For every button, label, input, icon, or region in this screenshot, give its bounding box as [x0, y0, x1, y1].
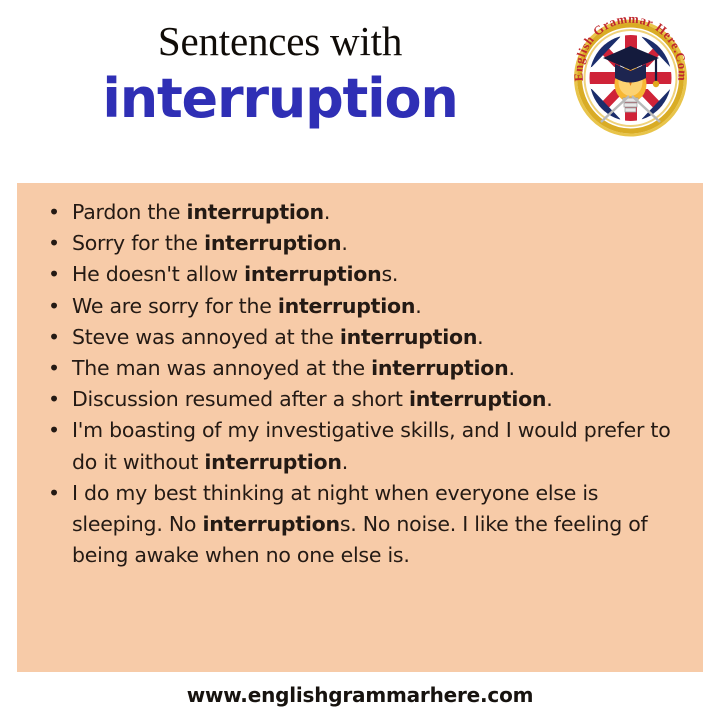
brand-logo-badge: English Grammar Here.Com: [567, 10, 694, 142]
site-url-footer: www.englishgrammarhere.com: [0, 682, 720, 708]
bullet-icon: •: [48, 478, 60, 509]
bullet-icon: •: [48, 353, 60, 384]
list-item: •Discussion resumed after a short interr…: [41, 384, 687, 415]
sentence-text: Pardon the interruption.: [72, 200, 330, 224]
keyword-highlight: interruption: [409, 387, 546, 411]
sentence-text: Steve was annoyed at the interruption.: [72, 325, 483, 349]
list-item: •We are sorry for the interruption.: [41, 291, 687, 322]
poster-page: Sentences with interruption: [0, 0, 720, 720]
keyword-highlight: interruption: [203, 512, 340, 536]
bullet-icon: •: [48, 228, 60, 259]
list-item: •I do my best thinking at night when eve…: [41, 478, 687, 572]
sentence-text: I'm boasting of my investigative skills,…: [72, 418, 671, 473]
bullet-icon: •: [48, 259, 60, 290]
sentence-text: Discussion resumed after a short interru…: [72, 387, 553, 411]
list-item: •The man was annoyed at the interruption…: [41, 353, 687, 384]
keyword-highlight: interruption: [204, 231, 341, 255]
bullet-icon: •: [48, 322, 60, 353]
sentences-panel: •Pardon the interruption.•Sorry for the …: [17, 183, 703, 672]
bullet-icon: •: [48, 384, 60, 415]
poster-header: Sentences with interruption: [0, 0, 720, 180]
keyword-highlight: interruption: [371, 356, 508, 380]
sentence-text: I do my best thinking at night when ever…: [72, 481, 648, 567]
list-item: •He doesn't allow interruptions.: [41, 259, 687, 290]
list-item: •I'm boasting of my investigative skills…: [41, 415, 687, 477]
list-item: •Pardon the interruption.: [41, 197, 687, 228]
list-item: •Sorry for the interruption.: [41, 228, 687, 259]
keyword-highlight: interruption: [244, 262, 381, 286]
keyword-highlight: interruption: [204, 450, 341, 474]
keyword-highlight: interruption: [340, 325, 477, 349]
keyword-highlight: interruption: [187, 200, 324, 224]
sentence-text: He doesn't allow interruptions.: [72, 262, 398, 286]
bullet-icon: •: [48, 415, 60, 446]
sentence-text: We are sorry for the interruption.: [72, 294, 421, 318]
page-title-keyword: interruption: [0, 68, 560, 130]
keyword-highlight: interruption: [278, 294, 415, 318]
bullet-icon: •: [48, 197, 60, 228]
sentence-text: The man was annoyed at the interruption.: [72, 356, 515, 380]
title-block: Sentences with interruption: [0, 16, 560, 130]
list-item: •Steve was annoyed at the interruption.: [41, 322, 687, 353]
sentence-list: •Pardon the interruption.•Sorry for the …: [33, 197, 687, 571]
page-title-prefix: Sentences with: [0, 16, 560, 66]
bullet-icon: •: [48, 291, 60, 322]
sentence-text: Sorry for the interruption.: [72, 231, 348, 255]
